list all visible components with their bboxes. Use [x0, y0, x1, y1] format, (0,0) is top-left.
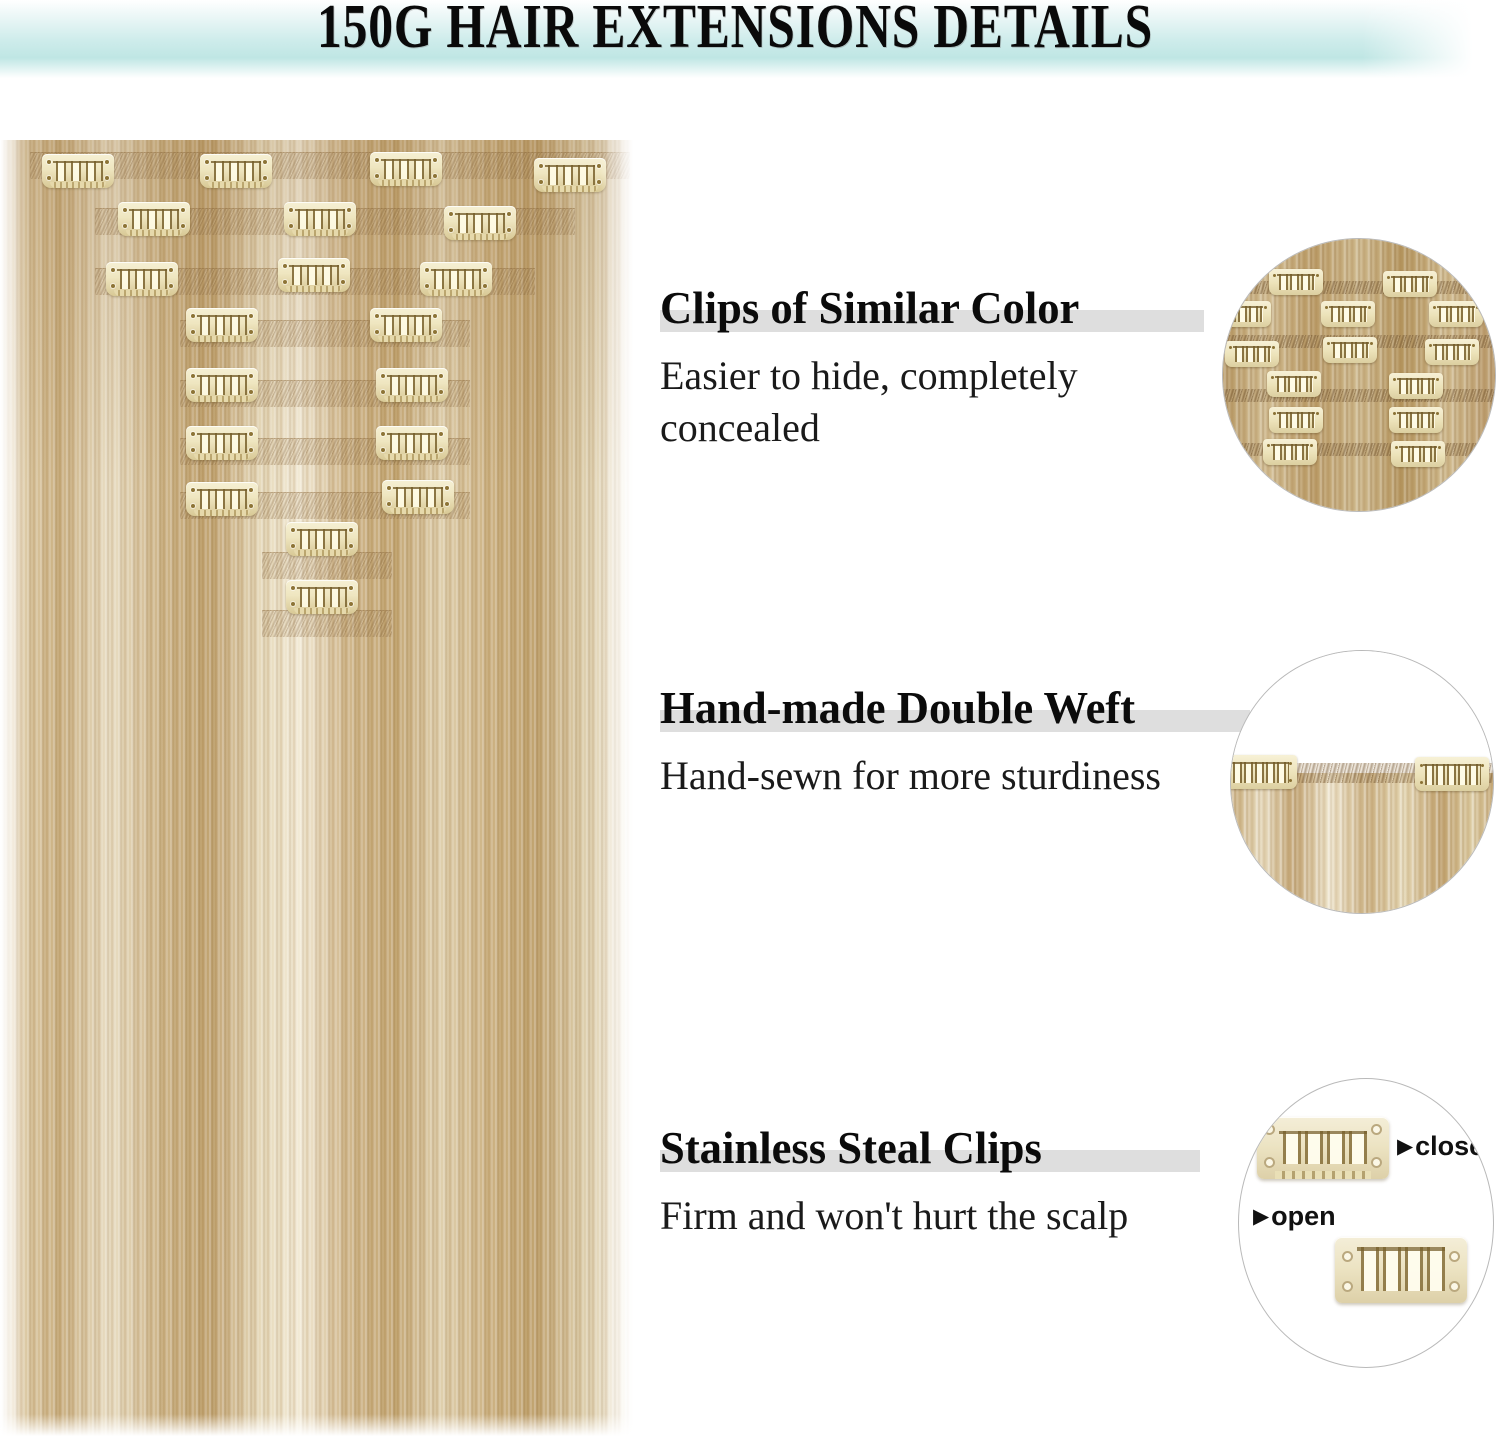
snap-clip: [284, 202, 356, 236]
hair-bottom-fade: [0, 1414, 640, 1440]
close-label: ▶close: [1397, 1131, 1484, 1161]
feature-heading: Clips of Similar Color: [660, 282, 1079, 334]
infographic-page: 150G HAIR EXTENSIONS DETAILS: [0, 0, 1500, 1446]
snap-clip: [1321, 301, 1375, 327]
snap-clip: [376, 426, 448, 460]
snap-clip: [1391, 441, 1445, 467]
snap-clip: [286, 522, 358, 556]
snap-clip: [1389, 407, 1443, 433]
snap-clip: [1263, 439, 1317, 465]
close-label-text: close: [1415, 1131, 1484, 1161]
page-title: 150G HAIR EXTENSIONS DETAILS: [147, 0, 1323, 60]
snap-clip: [1389, 373, 1443, 399]
snap-clip-closed: [1257, 1117, 1389, 1179]
open-label-text: open: [1271, 1201, 1336, 1231]
snap-clip: [286, 580, 358, 614]
triangle-marker-icon: ▶: [1397, 1135, 1413, 1158]
circle-hair-texture: [1231, 771, 1493, 914]
snap-clip: [1269, 269, 1323, 295]
open-label: ▶open: [1253, 1201, 1336, 1231]
snap-clip: [278, 258, 350, 292]
hair-right-edge-fade: [600, 140, 640, 1440]
snap-clip: [1267, 371, 1321, 397]
snap-clip: [1415, 757, 1489, 791]
open-close-clips-circle: ▶close ▶open: [1238, 1078, 1494, 1368]
snap-clip: [370, 152, 442, 186]
snap-clip: [42, 154, 114, 188]
snap-clip: [534, 158, 606, 192]
snap-clip: [200, 154, 272, 188]
snap-clip: [1323, 337, 1377, 363]
snap-clip: [1425, 339, 1479, 365]
snap-clip: [186, 308, 258, 342]
snap-clip: [1429, 301, 1483, 327]
snap-clip: [1383, 271, 1437, 297]
weft-seam: [262, 552, 392, 579]
feature-body-text: Firm and won't hurt the scalp: [660, 1190, 1180, 1242]
snap-clip: [186, 482, 258, 516]
snap-clip: [1230, 755, 1297, 789]
snap-clip: [186, 426, 258, 460]
snap-clip: [382, 480, 454, 514]
feature-body-text: Easier to hide, completely concealed: [660, 350, 1180, 454]
feature-heading-wrap: Hand-made Double Weft: [660, 682, 1150, 734]
circle-weft-seam: [1223, 281, 1495, 294]
feature-heading-wrap: Stainless Steal Clips: [660, 1122, 1054, 1174]
weft-seam: [262, 610, 392, 637]
circle-hair-texture: [1223, 239, 1495, 511]
snap-clip: [444, 206, 516, 240]
feature-heading-wrap: Clips of Similar Color: [660, 282, 1092, 334]
snap-clip: [1225, 341, 1279, 367]
snap-clip-open: [1335, 1237, 1467, 1303]
feature-body-text: Hand-sewn for more sturdiness: [660, 750, 1180, 802]
clips-closeup-circle: [1222, 238, 1496, 512]
hair-left-edge-fade: [0, 140, 26, 1440]
feature-block-clips-color: Clips of Similar Color Easier to hide, c…: [660, 282, 1220, 454]
snap-clip: [420, 262, 492, 296]
snap-clip: [106, 262, 178, 296]
product-photo: [0, 140, 640, 1440]
snap-clip: [186, 368, 258, 402]
snap-clip: [370, 308, 442, 342]
snap-clip: [1269, 407, 1323, 433]
snap-clip: [118, 202, 190, 236]
feature-heading: Stainless Steal Clips: [660, 1122, 1042, 1174]
feature-block-double-weft: Hand-made Double Weft Hand-sewn for more…: [660, 682, 1220, 802]
double-weft-closeup-circle: [1230, 650, 1494, 914]
triangle-marker-icon: ▶: [1253, 1205, 1269, 1228]
feature-block-stainless-clips: Stainless Steal Clips Firm and won't hur…: [660, 1122, 1220, 1242]
snap-clip: [376, 368, 448, 402]
snap-clip: [1222, 301, 1271, 327]
feature-heading: Hand-made Double Weft: [660, 682, 1135, 734]
circle-weft-seam: [1223, 389, 1495, 402]
